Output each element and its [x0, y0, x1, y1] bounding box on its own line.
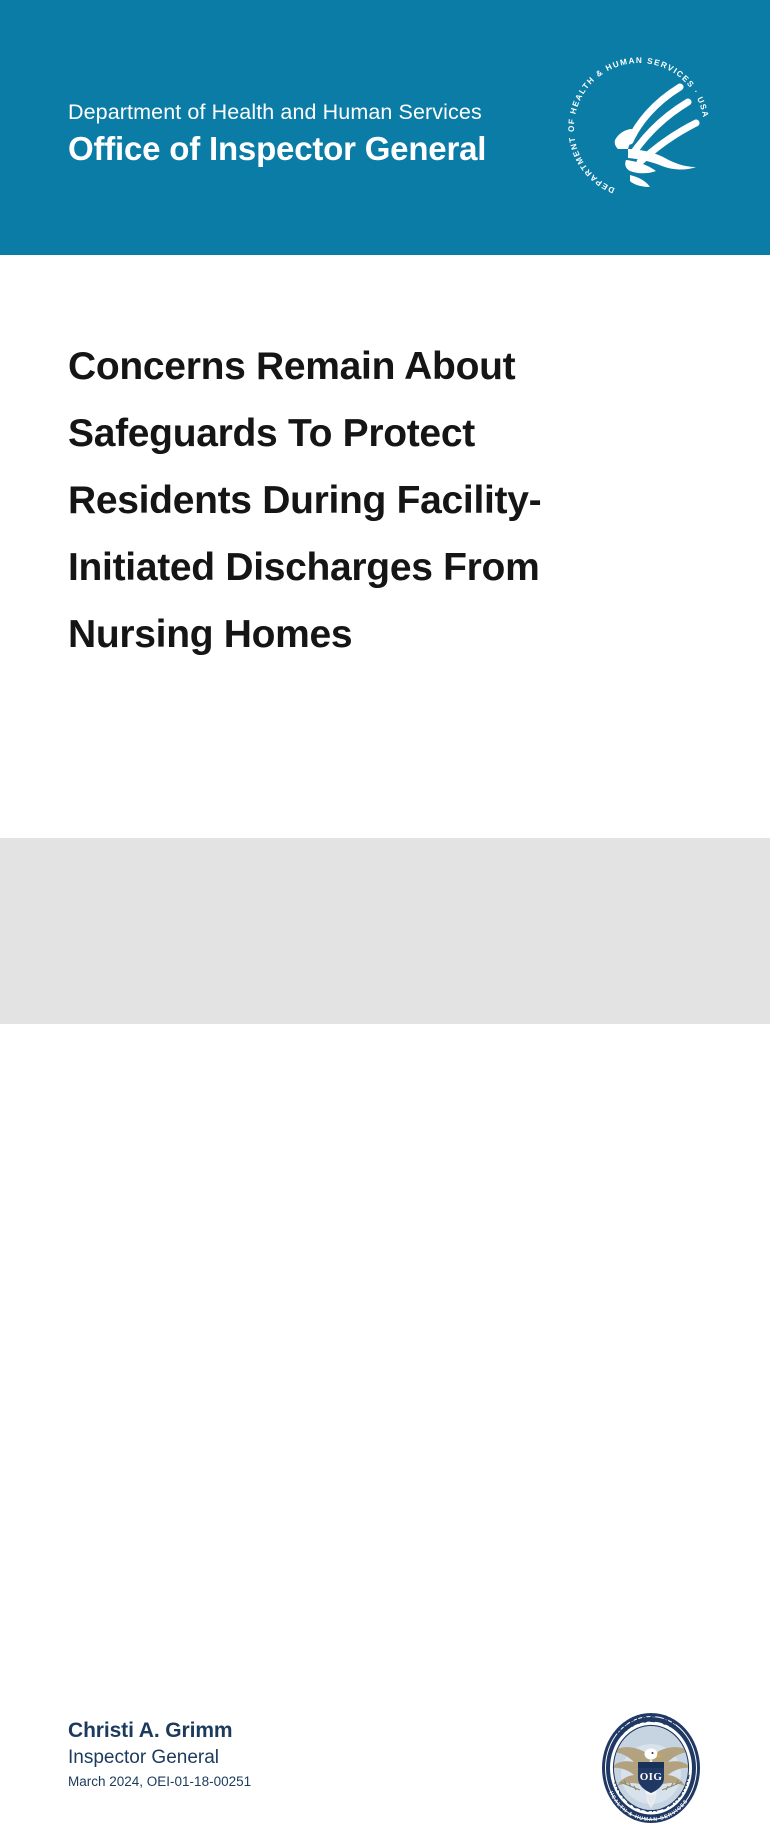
title-line-2: Safeguards To Protect: [68, 400, 628, 467]
report-date-and-number: March 2024, OEI-01-18-00251: [68, 1772, 251, 1791]
inspector-general-name: Christi A. Grimm: [68, 1718, 251, 1743]
hhs-seal-icon: DEPARTMENT OF HEALTH & HUMAN SERVICES · …: [568, 57, 710, 199]
department-name: Department of Health and Human Services: [68, 99, 568, 126]
office-name: Office of Inspector General: [68, 128, 568, 170]
report-title: Concerns Remain About Safeguards To Prot…: [68, 333, 628, 668]
title-line-3: Residents During Facility-: [68, 467, 628, 534]
footer-band: Christi A. Grimm Inspector General March…: [0, 838, 770, 1024]
header-band: Department of Health and Human Services …: [0, 0, 770, 255]
title-line-4: Initiated Discharges From: [68, 534, 628, 601]
oig-seal-icon: U.S. DEPARTMENT OF HEALTH & HUMAN SERVIC…: [590, 1704, 712, 1832]
header-title-block: Department of Health and Human Services …: [68, 99, 568, 170]
title-line-1: Concerns Remain About: [68, 333, 628, 400]
title-line-5: Nursing Homes: [68, 601, 628, 668]
inspector-general-role: Inspector General: [68, 1745, 251, 1770]
svg-text:OIG: OIG: [640, 1771, 663, 1783]
inspector-general-block: Christi A. Grimm Inspector General March…: [68, 1718, 251, 1791]
